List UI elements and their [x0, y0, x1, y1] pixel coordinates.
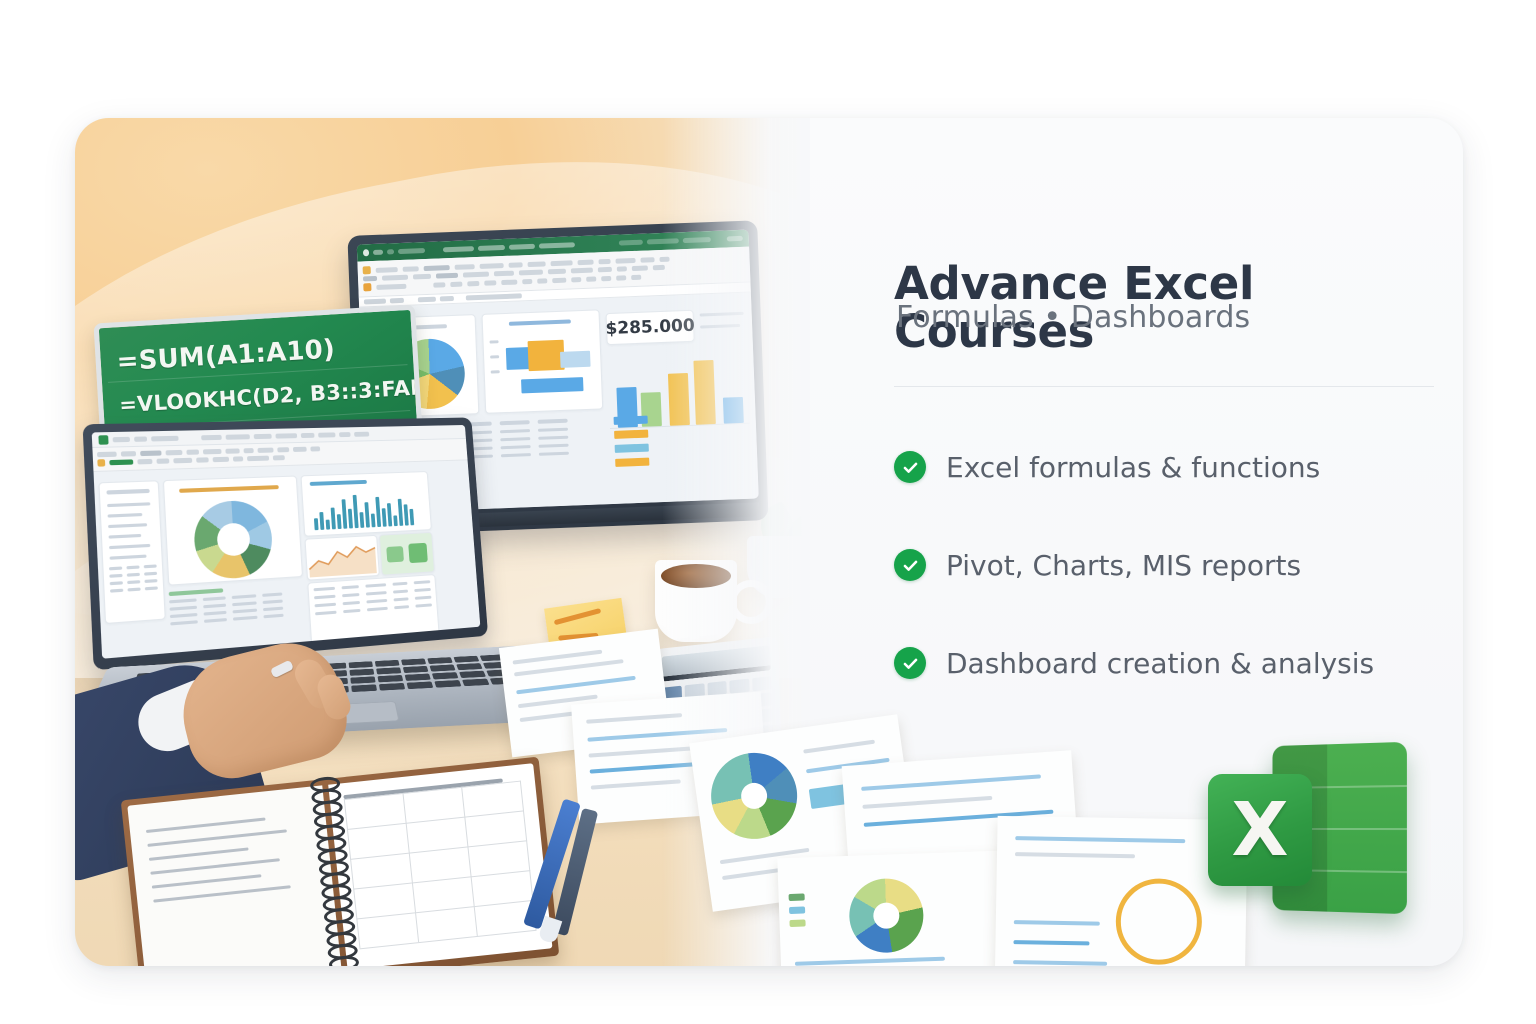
laptop-donut-chart — [163, 476, 303, 586]
titlebar-pill — [509, 244, 535, 250]
check-circle-icon — [894, 647, 926, 679]
feature-label: Excel formulas & functions — [946, 451, 1320, 484]
list-item: Excel formulas & functions — [894, 436, 1454, 498]
laptop-area-chart — [305, 535, 380, 581]
monitor-waterfall-chart — [481, 309, 603, 413]
laptop-lid — [83, 417, 489, 670]
titlebar-pill — [373, 250, 383, 255]
poster-stage: $285.000 — [0, 0, 1536, 1024]
check-circle-icon — [894, 451, 926, 483]
laptop-dashboard — [94, 466, 481, 659]
laptop-sidebar — [98, 480, 165, 624]
notebook-left-page — [127, 785, 341, 966]
ribbon-paste-icon — [363, 266, 371, 274]
kpi-gauge — [1115, 878, 1202, 965]
titlebar-pill — [538, 242, 575, 248]
header-divider — [894, 386, 1434, 387]
excel-logo: X — [1208, 738, 1440, 938]
excel-app-dot-icon — [363, 249, 370, 256]
excel-logo-letter: X — [1231, 793, 1288, 867]
course-info-panel: Advance Excel Courses Formulas • Dashboa… — [810, 118, 1463, 966]
laptop-data-table — [169, 583, 302, 625]
ribbon-format-icon — [363, 283, 371, 291]
titlebar-pill — [478, 245, 505, 251]
laptop-summary-table — [307, 574, 439, 645]
excel-app-icon — [98, 435, 108, 445]
list-item: Pivot, Charts, MIS reports — [894, 534, 1454, 596]
feature-label: Dashboard creation & analysis — [946, 647, 1374, 680]
course-promo-card: $285.000 — [75, 118, 1463, 966]
laptop-screen — [92, 425, 481, 659]
titlebar-pill — [398, 248, 425, 254]
titlebar-pill — [443, 246, 474, 252]
excel-logo-tile: X — [1208, 774, 1312, 886]
feature-label: Pivot, Charts, MIS reports — [946, 549, 1301, 582]
workspace-photo: $285.000 — [75, 118, 810, 966]
area-chart-svg — [306, 536, 379, 580]
page-subtitle: Formulas • Dashboards — [896, 300, 1436, 335]
laptop-histogram — [301, 471, 432, 537]
titlebar-pill — [387, 249, 394, 254]
notebook-grid — [344, 781, 537, 949]
titlebar-pill — [619, 240, 643, 246]
check-circle-icon — [894, 549, 926, 581]
feature-list: Excel formulas & functions Pivot, Charts… — [894, 436, 1454, 730]
list-item: Dashboard creation & analysis — [894, 632, 1454, 694]
laptop-mini-panel — [379, 532, 435, 576]
